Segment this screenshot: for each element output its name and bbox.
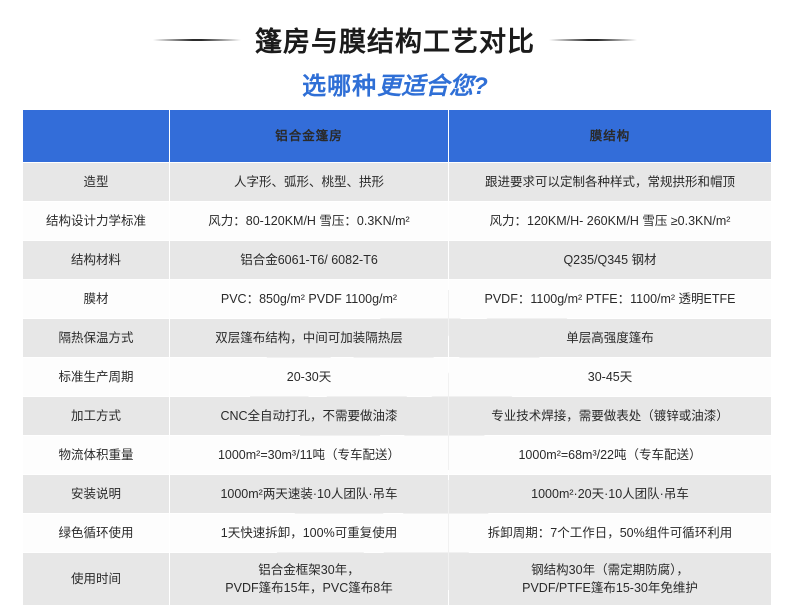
row-value-membrane: 1000m²=68m³/22吨（专车配送） [449, 436, 771, 474]
decorative-line-left [153, 39, 241, 41]
row-value-membrane: Q235/Q345 钢材 [449, 241, 771, 279]
column-header-aluminum: 铝合金篷房 [170, 110, 448, 162]
column-header-membrane: 膜结构 [449, 110, 771, 162]
row-value-membrane: 单层高强度篷布 [449, 319, 771, 357]
row-value-aluminum: 铝合金6061-T6/ 6082-T6 [170, 241, 448, 279]
row-label: 膜材 [23, 280, 169, 318]
table-row: 结构材料 铝合金6061-T6/ 6082-T6 Q235/Q345 钢材 [23, 241, 771, 279]
column-header-blank [23, 110, 169, 162]
row-value-aluminum: 20-30天 [170, 358, 448, 396]
table-row: 结构设计力学标准 风力：80-120KM/H 雪压：0.3KN/m² 风力：12… [23, 202, 771, 240]
comparison-table: 铝合金篷房 膜结构 造型 人字形、弧形、桃型、拱形 跟进要求可以定制各种样式，常… [22, 109, 772, 606]
row-label: 物流体积重量 [23, 436, 169, 474]
table-row: 绿色循环使用 1天快速拆卸，100%可重复使用 拆卸周期：7个工作日，50%组件… [23, 514, 771, 552]
table-row: 造型 人字形、弧形、桃型、拱形 跟进要求可以定制各种样式，常规拱形和帽顶 [23, 163, 771, 201]
row-value-aluminum: 风力：80-120KM/H 雪压：0.3KN/m² [170, 202, 448, 240]
row-label: 加工方式 [23, 397, 169, 435]
table-header-row: 铝合金篷房 膜结构 [23, 110, 771, 162]
comparison-table-wrapper: 铝合金篷房 膜结构 造型 人字形、弧形、桃型、拱形 跟进要求可以定制各种样式，常… [22, 109, 768, 606]
row-label: 隔热保温方式 [23, 319, 169, 357]
row-value-aluminum-line2: PVDF篷布15年，PVC篷布8年 [176, 579, 442, 597]
row-label: 标准生产周期 [23, 358, 169, 396]
table-row: 隔热保温方式 双层篷布结构，中间可加装隔热层 单层高强度篷布 [23, 319, 771, 357]
table-row: 使用时间 铝合金框架30年， PVDF篷布15年，PVC篷布8年 钢结构30年（… [23, 553, 771, 605]
row-value-membrane: 拆卸周期：7个工作日，50%组件可循环利用 [449, 514, 771, 552]
row-label: 结构材料 [23, 241, 169, 279]
decorative-line-right [549, 39, 637, 41]
table-row: 加工方式 CNC全自动打孔，不需要做油漆 专业技术焊接，需要做表处（镀锌或油漆） [23, 397, 771, 435]
table-header: 铝合金篷房 膜结构 [23, 110, 771, 162]
row-label: 使用时间 [23, 553, 169, 605]
row-value-membrane: 跟进要求可以定制各种样式，常规拱形和帽顶 [449, 163, 771, 201]
row-value-membrane: 风力：120KM/H- 260KM/H 雪压 ≥0.3KN/m² [449, 202, 771, 240]
table-row: 膜材 PVC：850g/m² PVDF 1100g/m² PVDF：1100g/… [23, 280, 771, 318]
row-value-membrane: 30-45天 [449, 358, 771, 396]
row-value-aluminum: 人字形、弧形、桃型、拱形 [170, 163, 448, 201]
row-label: 结构设计力学标准 [23, 202, 169, 240]
page-subtitle-accent: 更适合您? [377, 73, 488, 100]
row-value-aluminum-line1: 铝合金框架30年， [176, 561, 442, 579]
row-value-aluminum: 1000m²=30m³/11吨（专车配送） [170, 436, 448, 474]
row-value-aluminum: 1000m²两天速装·10人团队·吊车 [170, 475, 448, 513]
page-header: 篷房与膜结构工艺对比 选哪种更适合您? [0, 0, 790, 101]
title-row: 篷房与膜结构工艺对比 [0, 20, 790, 59]
row-value-membrane: 专业技术焊接，需要做表处（镀锌或油漆） [449, 397, 771, 435]
row-value-aluminum: 铝合金框架30年， PVDF篷布15年，PVC篷布8年 [170, 553, 448, 605]
row-label: 安装说明 [23, 475, 169, 513]
row-value-aluminum: PVC：850g/m² PVDF 1100g/m² [170, 280, 448, 318]
table-row: 标准生产周期 20-30天 30-45天 [23, 358, 771, 396]
row-value-membrane: PVDF：1100g/m² PTFE：1100/m² 透明ETFE [449, 280, 771, 318]
row-label: 绿色循环使用 [23, 514, 169, 552]
page-subtitle-plain: 选哪种 [302, 73, 377, 100]
row-value-membrane-line2: PVDF/PTFE篷布15-30年免维护 [455, 579, 765, 597]
row-value-aluminum: 双层篷布结构，中间可加装隔热层 [170, 319, 448, 357]
row-value-membrane-line1: 钢结构30年（需定期防腐）， [455, 561, 765, 579]
table-row: 安装说明 1000m²两天速装·10人团队·吊车 1000m²·20天·10人团… [23, 475, 771, 513]
page-title: 篷房与膜结构工艺对比 [255, 20, 535, 59]
row-value-membrane: 1000m²·20天·10人团队·吊车 [449, 475, 771, 513]
table-row: 物流体积重量 1000m²=30m³/11吨（专车配送） 1000m²=68m³… [23, 436, 771, 474]
row-label: 造型 [23, 163, 169, 201]
row-value-aluminum: CNC全自动打孔，不需要做油漆 [170, 397, 448, 435]
row-value-membrane: 钢结构30年（需定期防腐）， PVDF/PTFE篷布15-30年免维护 [449, 553, 771, 605]
page-subtitle: 选哪种更适合您? [0, 66, 790, 101]
row-value-aluminum: 1天快速拆卸，100%可重复使用 [170, 514, 448, 552]
table-body: 造型 人字形、弧形、桃型、拱形 跟进要求可以定制各种样式，常规拱形和帽顶 结构设… [23, 163, 771, 605]
